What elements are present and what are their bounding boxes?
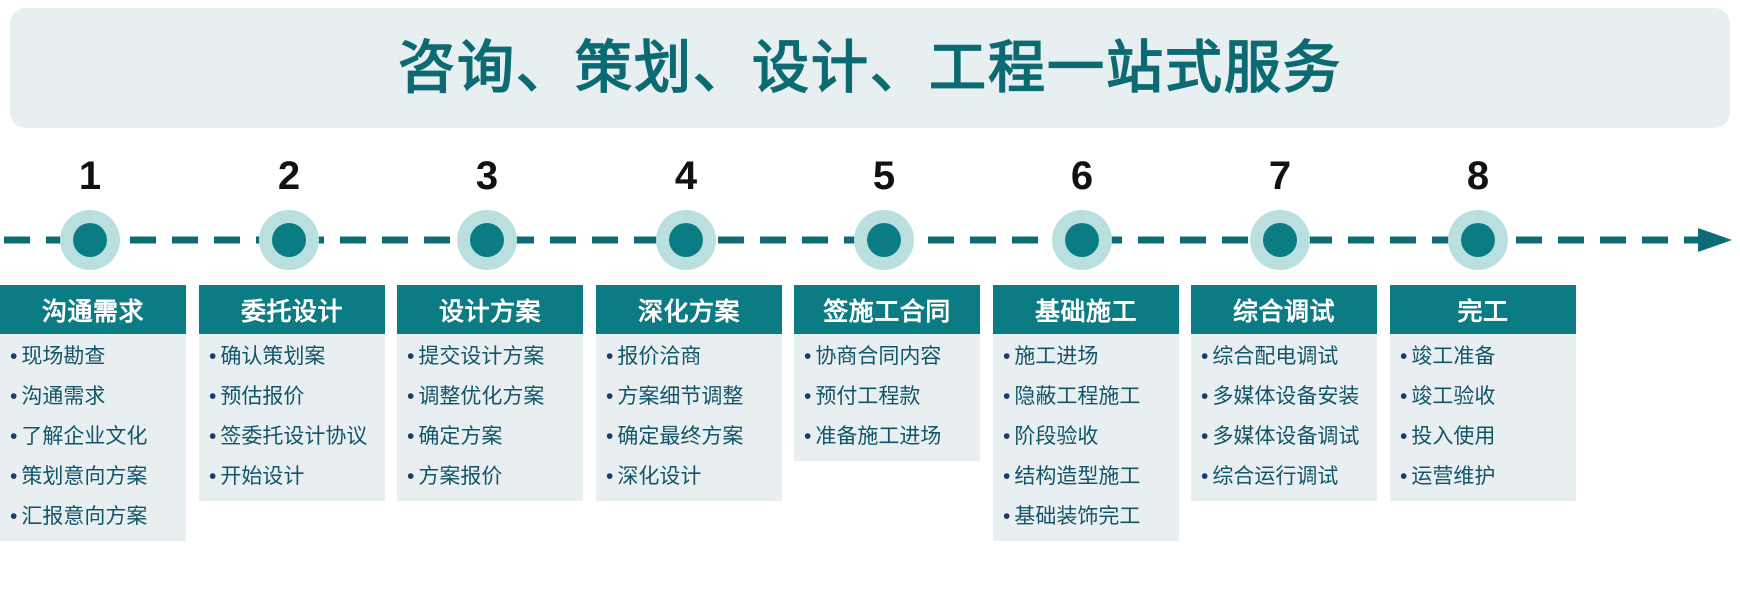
bullet-icon: • [1400, 426, 1407, 447]
list-item: •提交设计方案 [407, 346, 579, 367]
bullet-icon: • [804, 386, 811, 407]
step-marker-dot-icon [669, 223, 703, 257]
step-number-8: 8 [1438, 156, 1518, 196]
step-card-1[interactable]: 沟通需求•现场勘查•沟通需求•了解企业文化•策划意向方案•汇报意向方案 [0, 285, 186, 541]
list-item: •报价洽商 [606, 346, 778, 367]
list-item-label: 预估报价 [220, 386, 304, 407]
list-item: •竣工准备 [1400, 346, 1572, 367]
step-marker-5[interactable] [854, 210, 914, 270]
list-item-label: 预付工程款 [815, 386, 920, 407]
step-marker-1[interactable] [60, 210, 120, 270]
list-item: •预估报价 [209, 386, 381, 407]
step-number-3: 3 [447, 156, 527, 196]
list-item-label: 基础装饰完工 [1014, 506, 1140, 527]
bullet-icon: • [1003, 466, 1010, 487]
step-card-title: 完工 [1390, 285, 1576, 334]
step-card-4[interactable]: 深化方案•报价洽商•方案细节调整•确定最终方案•深化设计 [596, 285, 782, 501]
bullet-icon: • [407, 346, 414, 367]
step-number-2: 2 [249, 156, 329, 196]
step-number-6: 6 [1042, 156, 1122, 196]
bullet-icon: • [10, 426, 17, 447]
bullet-icon: • [209, 346, 216, 367]
list-item: •准备施工进场 [804, 426, 976, 447]
list-item: •确定方案 [407, 426, 579, 447]
step-marker-3[interactable] [457, 210, 517, 270]
step-marker-4[interactable] [656, 210, 716, 270]
list-item-label: 签委托设计协议 [220, 426, 367, 447]
bullet-icon: • [1400, 466, 1407, 487]
list-item-label: 沟通需求 [21, 386, 105, 407]
list-item-label: 深化设计 [617, 466, 701, 487]
step-card-body: •施工进场•隐蔽工程施工•阶段验收•结构造型施工•基础装饰完工 [993, 334, 1179, 541]
bullet-icon: • [209, 426, 216, 447]
list-item-label: 现场勘查 [21, 346, 105, 367]
list-item: •运营维护 [1400, 466, 1572, 487]
list-item-label: 了解企业文化 [21, 426, 147, 447]
list-item: •深化设计 [606, 466, 778, 487]
list-item: •协商合同内容 [804, 346, 976, 367]
list-item: •结构造型施工 [1003, 466, 1175, 487]
list-item: •调整优化方案 [407, 386, 579, 407]
bullet-icon: • [606, 386, 613, 407]
list-item-label: 汇报意向方案 [21, 506, 147, 527]
bullet-icon: • [209, 466, 216, 487]
step-marker-7[interactable] [1250, 210, 1310, 270]
list-item-label: 协商合同内容 [815, 346, 941, 367]
list-item: •施工进场 [1003, 346, 1175, 367]
step-card-title: 综合调试 [1191, 285, 1377, 334]
step-card-8[interactable]: 完工•竣工准备•竣工验收•投入使用•运营维护 [1390, 285, 1576, 501]
list-item-label: 提交设计方案 [418, 346, 544, 367]
list-item: •隐蔽工程施工 [1003, 386, 1175, 407]
list-item-label: 确认策划案 [220, 346, 325, 367]
list-item-label: 多媒体设备安装 [1212, 386, 1359, 407]
bullet-icon: • [1003, 426, 1010, 447]
step-card-body: •综合配电调试•多媒体设备安装•多媒体设备调试•综合运行调试 [1191, 334, 1377, 501]
list-item: •方案细节调整 [606, 386, 778, 407]
bullet-icon: • [10, 466, 17, 487]
steps-container: 沟通需求•现场勘查•沟通需求•了解企业文化•策划意向方案•汇报意向方案委托设计•… [0, 285, 1740, 606]
list-item: •确定最终方案 [606, 426, 778, 447]
step-card-body: •提交设计方案•调整优化方案•确定方案•方案报价 [397, 334, 583, 501]
step-number-1: 1 [50, 156, 130, 196]
list-item: •综合运行调试 [1201, 466, 1373, 487]
bullet-icon: • [606, 426, 613, 447]
list-item-label: 多媒体设备调试 [1212, 426, 1359, 447]
step-marker-6[interactable] [1052, 210, 1112, 270]
bullet-icon: • [10, 346, 17, 367]
step-card-title: 签施工合同 [794, 285, 980, 334]
bullet-icon: • [1201, 386, 1208, 407]
step-marker-dot-icon [867, 223, 901, 257]
bullet-icon: • [1201, 426, 1208, 447]
list-item-label: 阶段验收 [1014, 426, 1098, 447]
bullet-icon: • [209, 386, 216, 407]
step-marker-dot-icon [470, 223, 504, 257]
step-card-5[interactable]: 签施工合同•协商合同内容•预付工程款•准备施工进场 [794, 285, 980, 461]
step-card-title: 基础施工 [993, 285, 1179, 334]
step-card-body: •确认策划案•预估报价•签委托设计协议•开始设计 [199, 334, 385, 501]
step-marker-dot-icon [1461, 223, 1495, 257]
step-card-body: •报价洽商•方案细节调整•确定最终方案•深化设计 [596, 334, 782, 501]
step-marker-dot-icon [1065, 223, 1099, 257]
bullet-icon: • [1400, 346, 1407, 367]
step-card-7[interactable]: 综合调试•综合配电调试•多媒体设备安装•多媒体设备调试•综合运行调试 [1191, 285, 1377, 501]
list-item-label: 准备施工进场 [815, 426, 941, 447]
bullet-icon: • [407, 466, 414, 487]
step-card-body: •现场勘查•沟通需求•了解企业文化•策划意向方案•汇报意向方案 [0, 334, 186, 541]
step-card-2[interactable]: 委托设计•确认策划案•预估报价•签委托设计协议•开始设计 [199, 285, 385, 501]
list-item: •开始设计 [209, 466, 381, 487]
bullet-icon: • [1003, 506, 1010, 527]
bullet-icon: • [1400, 386, 1407, 407]
bullet-icon: • [804, 426, 811, 447]
bullet-icon: • [1201, 466, 1208, 487]
list-item: •竣工验收 [1400, 386, 1572, 407]
list-item-label: 调整优化方案 [418, 386, 544, 407]
list-item: •综合配电调试 [1201, 346, 1373, 367]
step-card-title: 沟通需求 [0, 285, 186, 334]
list-item-label: 策划意向方案 [21, 466, 147, 487]
list-item: •策划意向方案 [10, 466, 182, 487]
list-item-label: 确定最终方案 [617, 426, 743, 447]
list-item-label: 结构造型施工 [1014, 466, 1140, 487]
list-item: •现场勘查 [10, 346, 182, 367]
list-item: •阶段验收 [1003, 426, 1175, 447]
bullet-icon: • [407, 426, 414, 447]
list-item: •投入使用 [1400, 426, 1572, 447]
list-item-label: 竣工准备 [1411, 346, 1495, 367]
bullet-icon: • [10, 386, 17, 407]
step-card-body: •竣工准备•竣工验收•投入使用•运营维护 [1390, 334, 1576, 501]
step-card-title: 设计方案 [397, 285, 583, 334]
step-card-3[interactable]: 设计方案•提交设计方案•调整优化方案•确定方案•方案报价 [397, 285, 583, 501]
bullet-icon: • [1003, 346, 1010, 367]
step-marker-dot-icon [1263, 223, 1297, 257]
title-banner: 咨询、策划、设计、工程一站式服务 [10, 8, 1730, 128]
list-item: •汇报意向方案 [10, 506, 182, 527]
list-item-label: 运营维护 [1411, 466, 1495, 487]
bullet-icon: • [606, 346, 613, 367]
list-item-label: 竣工验收 [1411, 386, 1495, 407]
bullet-icon: • [1201, 346, 1208, 367]
step-number-7: 7 [1240, 156, 1320, 196]
page-title: 咨询、策划、设计、工程一站式服务 [398, 40, 1342, 97]
list-item: •多媒体设备安装 [1201, 386, 1373, 407]
list-item: •确认策划案 [209, 346, 381, 367]
list-item-label: 方案细节调整 [617, 386, 743, 407]
bullet-icon: • [407, 386, 414, 407]
list-item: •预付工程款 [804, 386, 976, 407]
step-number-4: 4 [646, 156, 726, 196]
list-item-label: 确定方案 [418, 426, 502, 447]
list-item-label: 隐蔽工程施工 [1014, 386, 1140, 407]
bullet-icon: • [1003, 386, 1010, 407]
list-item-label: 综合运行调试 [1212, 466, 1338, 487]
list-item-label: 方案报价 [418, 466, 502, 487]
list-item: •基础装饰完工 [1003, 506, 1175, 527]
list-item-label: 投入使用 [1411, 426, 1495, 447]
list-item: •了解企业文化 [10, 426, 182, 447]
timeline: 12345678 [0, 150, 1740, 270]
list-item: •方案报价 [407, 466, 579, 487]
bullet-icon: • [804, 346, 811, 367]
bullet-icon: • [10, 506, 17, 527]
list-item: •沟通需求 [10, 386, 182, 407]
list-item-label: 施工进场 [1014, 346, 1098, 367]
step-number-5: 5 [844, 156, 924, 196]
list-item: •多媒体设备调试 [1201, 426, 1373, 447]
step-card-title: 深化方案 [596, 285, 782, 334]
step-marker-dot-icon [73, 223, 107, 257]
step-marker-dot-icon [272, 223, 306, 257]
step-card-title: 委托设计 [199, 285, 385, 334]
list-item-label: 报价洽商 [617, 346, 701, 367]
list-item: •签委托设计协议 [209, 426, 381, 447]
list-item-label: 开始设计 [220, 466, 304, 487]
step-card-body: •协商合同内容•预付工程款•准备施工进场 [794, 334, 980, 461]
bullet-icon: • [606, 466, 613, 487]
step-marker-8[interactable] [1448, 210, 1508, 270]
list-item-label: 综合配电调试 [1212, 346, 1338, 367]
step-marker-2[interactable] [259, 210, 319, 270]
step-card-6[interactable]: 基础施工•施工进场•隐蔽工程施工•阶段验收•结构造型施工•基础装饰完工 [993, 285, 1179, 541]
